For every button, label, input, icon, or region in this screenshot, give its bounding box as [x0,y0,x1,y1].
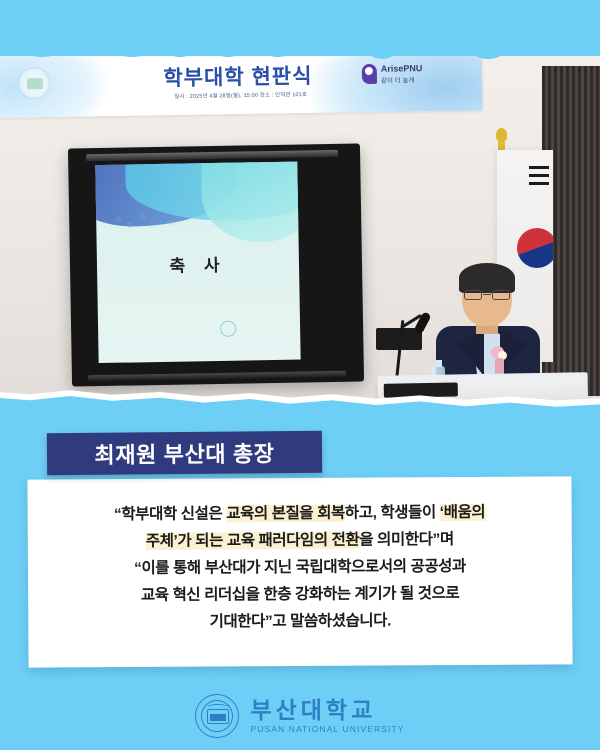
event-photo-card: 학부대학 현판식 일시 : 2025년 4월 28일(월), 15:00 장소 … [0,28,600,413]
quote-card: “학부대학 신설은 교육의 본질을 회복하고, 학생들이 ‘배움의주체’가 되는… [27,476,572,667]
glasses-icon [464,290,510,300]
photo-inner: 학부대학 현판식 일시 : 2025년 4월 28일(월), 15:00 장소 … [0,28,600,413]
footer-text: 부산대학교 PUSAN NATIONAL UNIVERSITY [250,698,404,734]
quote-highlight-run: ‘배움의 [440,504,486,521]
quote-run: 기대한다”고 말씀하셨습니다. [210,612,392,630]
pnu-seal-icon [195,694,239,738]
arisepnu-tagline: 같이 더 높게 [381,74,415,85]
speaker-name-banner: 최재원 부산대 총장 [47,431,322,475]
quote-highlight-run: 교육의 본질을 회복 [226,505,345,523]
quote-line: “학부대학 신설은 교육의 본질을 회복하고, 학생들이 ‘배움의 [28,498,572,528]
arisepnu-logo: ArisePNU 같이 더 높게 [362,61,459,97]
footer-korean-name: 부산대학교 [250,698,404,722]
footer-english-name: PUSAN NATIONAL UNIVERSITY [250,725,404,734]
footer-branding: 부산대학교 PUSAN NATIONAL UNIVERSITY [0,686,600,746]
quote-run: 을 의미한다”며 [359,531,454,549]
monitor-top-bar [86,150,338,161]
torn-edge-top [0,28,600,56]
speaker-name-label: 최재원 부산대 총장 [94,436,274,470]
quote-line: 주체’가 되는 교육 패러다임의 전환을 의미한다”며 [28,525,572,555]
slide-wave-3 [201,162,301,244]
quote-highlight-run: 주체’가 되는 교육 패러다임의 전환 [146,532,360,550]
quote-line: 교육 혁신 리더십을 한층 강화하는 계기가 될 것으로 [28,579,572,609]
slide-ring-icon [220,321,236,337]
quote-text: “학부대학 신설은 교육의 본질을 회복하고, 학생들이 ‘배움의주체’가 되는… [28,498,573,636]
hair [459,263,515,293]
slide-title: 축 사 [97,250,299,279]
quote-run: “이를 통해 부산대가 지닌 국립대학으로서의 공공성과 [134,558,466,577]
quote-run: 하고, 학생들이 [345,504,440,522]
arisepnu-mark-icon [362,64,377,84]
presentation-monitor: 축 사 [68,143,364,386]
quote-run: 교육 혁신 리더십을 한층 강화하는 계기가 될 것으로 [141,585,460,604]
monitor-bottom-bar [88,371,346,382]
quote-run: “학부대학 신설은 [114,505,226,523]
taegeuk-icon [517,228,553,268]
quote-line: 기대한다”고 말씀하셨습니다. [28,606,572,636]
monitor-screen: 축 사 [95,162,300,363]
quote-line: “이를 통해 부산대가 지닌 국립대학으로서의 공공성과 [28,552,572,582]
